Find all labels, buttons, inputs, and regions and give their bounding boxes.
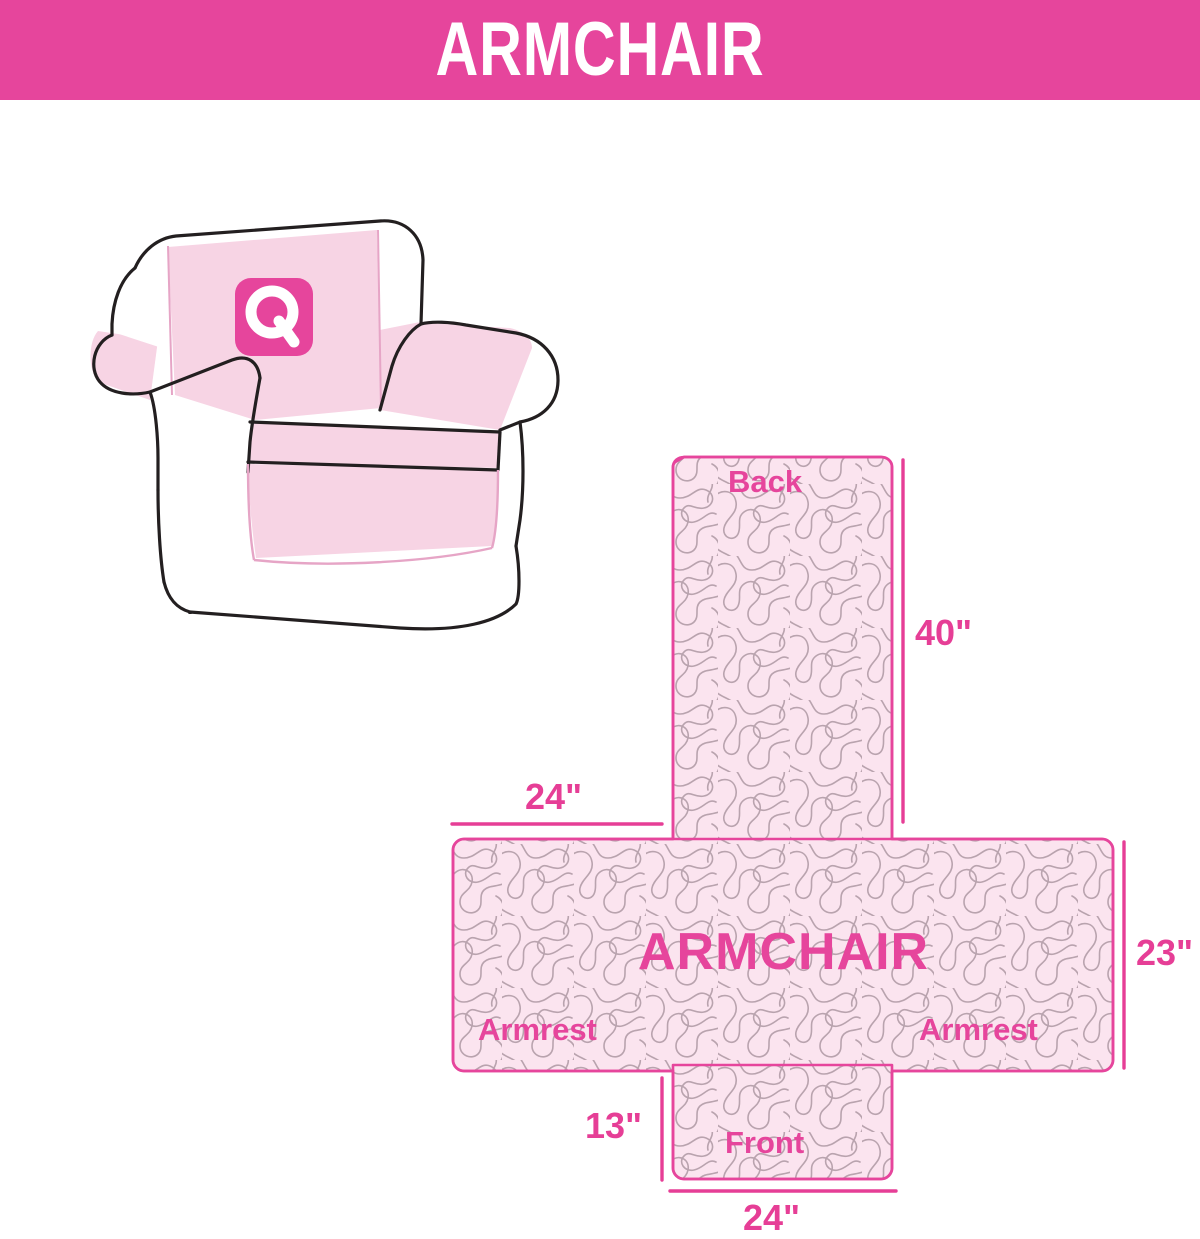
panel-back	[673, 457, 892, 840]
dimension-label-front-drop: 13"	[585, 1105, 642, 1147]
chair-left-arm-inner	[150, 392, 158, 490]
dimension-label-back-length: 40"	[915, 612, 972, 654]
dimension-label-body-depth: 23"	[1136, 932, 1193, 974]
page-title: ARMCHAIR	[132, 0, 1068, 100]
chair-back-right-wing	[377, 230, 422, 330]
panel-label-front: Front	[725, 1125, 804, 1161]
brand-logo	[235, 278, 313, 356]
dimension-label-armrest-width: 24"	[525, 776, 582, 818]
dimension-label-front-width: 24"	[743, 1197, 800, 1239]
panel-front	[673, 1065, 892, 1179]
panel-label-armrest-right: Armrest	[919, 1012, 1038, 1048]
panel-label-back: Back	[728, 464, 802, 500]
chair-left-arm-front-face	[158, 490, 164, 582]
pattern-center-label: ARMCHAIR	[638, 922, 929, 982]
header-banner: ARMCHAIR	[0, 0, 1200, 100]
content-area: Back ARMCHAIR Armrest Armrest Front 40" …	[0, 100, 1200, 1200]
pattern-diagram: Back ARMCHAIR Armrest Armrest Front 40" …	[430, 340, 1200, 1200]
panel-label-armrest-left: Armrest	[478, 1012, 597, 1048]
